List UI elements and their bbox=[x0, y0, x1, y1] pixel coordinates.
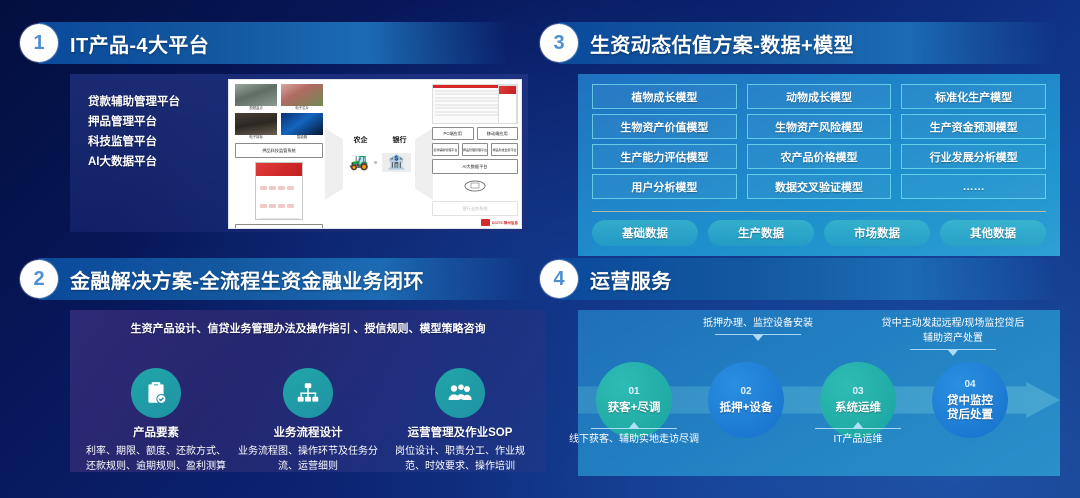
thumbnail-caption: 智能箱 bbox=[281, 135, 323, 140]
thumbnail: 智能箱 bbox=[281, 113, 323, 140]
q2-column-operations: 运营管理及作业SOP 岗位设计、职责分工、作业规范、时效要求、操作培训 bbox=[384, 368, 536, 474]
org-chart-icon bbox=[283, 368, 333, 418]
thumbnail: 电子耳标 bbox=[235, 113, 277, 140]
list-item: 贷款辅助管理平台 bbox=[88, 92, 218, 112]
quadrant-1-it-products: 1 IT产品-4大平台 贷款辅助管理平台 押品管理平台 科技监管平台 AI大数据… bbox=[20, 22, 528, 234]
list-item: 科技监管平台 bbox=[88, 132, 218, 152]
step-label: 贷中监控贷后处置 bbox=[947, 394, 993, 422]
q2-body: 利率、期限、额度、还款方式、还款规则、逾期规则、盈利测算 bbox=[86, 444, 226, 474]
tech-supervision-box: 押品科技监管平台 bbox=[491, 143, 518, 156]
ai-bigdata-box: AI大数据平台 bbox=[432, 159, 518, 174]
q2-body: 岗位设计、职责分工、作业规范、时效要求、操作培训 bbox=[390, 444, 530, 474]
annotation-step-2: 抵押办理、监控设备安装 bbox=[683, 316, 833, 335]
annotation-step-1: 线下获客、辅助实地走访尽调 bbox=[559, 428, 709, 447]
annotation-pointer-line bbox=[910, 349, 996, 350]
screenshot-center: 农企 银行 🚜 🏦 bbox=[341, 135, 419, 172]
model-cell[interactable]: 用户分析模型 bbox=[592, 174, 737, 199]
smart-box-image bbox=[281, 113, 323, 135]
right-box-row-2: 贷款辅助管理平台 押品管理管理平台 押品科技监管平台 bbox=[432, 143, 518, 156]
quadrant-2-financial-solution: 2 金融解决方案-全流程生资金融业务闭环 生资产品设计、信贷业务管理办法及操作指… bbox=[20, 258, 546, 478]
bank-building-box: 🏦 bbox=[382, 153, 411, 172]
screenshot-left-column: 视频监点 电子芯片 电子耳标 bbox=[235, 84, 323, 229]
model-cell[interactable]: 植物成长模型 bbox=[592, 84, 737, 109]
step-number: 03 bbox=[852, 386, 863, 397]
model-cell[interactable]: 行业发展分析模型 bbox=[901, 144, 1046, 169]
q2-title: 金融解决方案-全流程生资金融业务闭环 bbox=[70, 265, 424, 294]
loan-platform-box: 贷款辅助管理平台 bbox=[432, 143, 459, 156]
bank-label: 银行 bbox=[393, 135, 407, 145]
q2-column-process: 业务流程设计 业务流程图、操作环节及任务分流、运营细则 bbox=[232, 368, 384, 474]
tractor-icon: 🚜 bbox=[349, 155, 369, 171]
thumbnail: 电子芯片 bbox=[281, 84, 323, 111]
phone-icon-grid bbox=[256, 176, 302, 216]
users-group-icon bbox=[435, 368, 485, 418]
data-pill-other[interactable]: 其他数据 bbox=[940, 220, 1046, 246]
vendor-logo: DCITS 神州信息 bbox=[481, 219, 518, 226]
q3-badge: 3 bbox=[540, 24, 578, 62]
q2-column-group: 产品要素 利率、期限、额度、还款方式、还款规则、逾期规则、盈利测算 bbox=[80, 368, 536, 474]
q1-badge: 1 bbox=[20, 24, 58, 62]
q2-header: 2 金融解决方案-全流程生资金融业务闭环 bbox=[20, 258, 424, 300]
q2-column-product: 产品要素 利率、期限、额度、还款方式、还款规则、逾期规则、盈利测算 bbox=[80, 368, 232, 474]
pc-app-box: PC端应用 bbox=[432, 127, 474, 140]
q2-heading: 业务流程设计 bbox=[238, 424, 378, 440]
chip-image bbox=[281, 84, 323, 106]
step-circle-02[interactable]: 02 抵押+设备 bbox=[708, 362, 784, 438]
mobile-app-box: 移动端应用 bbox=[235, 224, 323, 229]
thumbnail-caption: 电子芯片 bbox=[281, 106, 323, 111]
model-cell[interactable]: 动物成长模型 bbox=[747, 84, 892, 109]
connector-dot bbox=[374, 161, 377, 164]
q3-title: 生资动态估值方案-数据+模型 bbox=[590, 29, 854, 58]
thumbnail-row: 视频监点 电子芯片 bbox=[235, 84, 323, 111]
data-pill-row: 基础数据 生产数据 市场数据 其他数据 bbox=[592, 220, 1046, 246]
mobile-phone-mockup bbox=[255, 162, 303, 220]
model-grid: 植物成长模型 动物成长模型 标准化生产模型 生物资产价值模型 生物资产风险模型 … bbox=[592, 84, 1046, 199]
q2-panel: 生资产品设计、信贷业务管理办法及操作指引 、授信规则、模型策略咨询 产品要素 利 bbox=[70, 310, 546, 472]
section-divider bbox=[592, 211, 1046, 212]
slide-canvas: 1 IT产品-4大平台 贷款辅助管理平台 押品管理平台 科技监管平台 AI大数据… bbox=[0, 0, 1080, 498]
annotation-pointer-line bbox=[591, 428, 677, 429]
q1-header: 1 IT产品-4大平台 bbox=[20, 22, 209, 64]
pc-table-mockup bbox=[432, 84, 518, 124]
phone-side-mockup bbox=[498, 85, 517, 124]
step-label: 系统运维 bbox=[835, 401, 881, 415]
phone-header bbox=[256, 163, 302, 176]
data-pill-production[interactable]: 生产数据 bbox=[708, 220, 814, 246]
q1-platform-list: 贷款辅助管理平台 押品管理平台 科技监管平台 AI大数据平台 bbox=[88, 92, 218, 172]
q2-heading: 运营管理及作业SOP bbox=[390, 424, 530, 440]
data-pill-market[interactable]: 市场数据 bbox=[824, 220, 930, 246]
quadrant-3-valuation: 3 生资动态估值方案-数据+模型 植物成长模型 动物成长模型 标准化生产模型 生… bbox=[540, 22, 1060, 242]
thumbnail: 视频监点 bbox=[235, 84, 277, 111]
q3-panel: 植物成长模型 动物成长模型 标准化生产模型 生物资产价值模型 生物资产风险模型 … bbox=[578, 74, 1060, 256]
model-cell[interactable]: 标准化生产模型 bbox=[901, 84, 1046, 109]
ear-tag-image bbox=[235, 113, 277, 135]
farm-enterprise-label: 农企 bbox=[354, 135, 368, 145]
step-label: 抵押+设备 bbox=[720, 401, 773, 415]
model-cell[interactable]: 生物资产价值模型 bbox=[592, 114, 737, 139]
list-item: 押品管理平台 bbox=[88, 112, 218, 132]
q1-product-screenshot: 视频监点 电子芯片 电子耳标 bbox=[228, 79, 522, 229]
annotation-step-4: 贷中主动发起远程/现场监控贷后辅助资产处置 bbox=[878, 316, 1028, 350]
list-item: AI大数据平台 bbox=[88, 152, 218, 172]
q2-heading: 产品要素 bbox=[86, 424, 226, 440]
q3-header: 3 生资动态估值方案-数据+模型 bbox=[540, 22, 854, 64]
clipboard-check-icon bbox=[131, 368, 181, 418]
q4-panel: 抵押办理、监控设备安装 贷中主动发起远程/现场监控贷后辅助资产处置 01 获客+… bbox=[578, 310, 1060, 476]
video-monitor-image bbox=[235, 84, 277, 106]
mobile-app-box-right: 移动端应用 bbox=[477, 127, 519, 140]
annotation-step-3: IT产品运维 bbox=[783, 428, 933, 447]
thumbnail-caption: 视频监点 bbox=[235, 106, 277, 111]
q4-title: 运营服务 bbox=[590, 265, 672, 294]
sync-icon bbox=[432, 179, 518, 197]
logo-mark-icon bbox=[481, 219, 490, 226]
step-number: 02 bbox=[740, 386, 751, 397]
collateral-platform-box: 押品管理管理平台 bbox=[462, 143, 489, 156]
step-number: 04 bbox=[964, 379, 975, 390]
bank-icon: 🏦 bbox=[387, 155, 406, 170]
model-cell[interactable]: 农产品价格模型 bbox=[747, 144, 892, 169]
screenshot-right-column: PC端应用 移动端应用 贷款辅助管理平台 押品管理管理平台 押品科技监管平台 A… bbox=[432, 84, 518, 216]
q1-title: IT产品-4大平台 bbox=[70, 29, 209, 58]
step-label: 获客+尽调 bbox=[608, 401, 661, 415]
q4-header: 4 运营服务 bbox=[540, 258, 672, 300]
data-pill-basic[interactable]: 基础数据 bbox=[592, 220, 698, 246]
thumbnail-row: 电子耳标 智能箱 bbox=[235, 113, 323, 140]
model-cell[interactable]: 生物资产风险模型 bbox=[747, 114, 892, 139]
supervision-system-box: 押品科技监管系统 bbox=[235, 143, 323, 158]
model-cell[interactable]: 数据交叉验证模型 bbox=[747, 174, 892, 199]
thumbnail-caption: 电子耳标 bbox=[235, 135, 277, 140]
model-cell-more[interactable]: …… bbox=[901, 174, 1046, 199]
q4-badge: 4 bbox=[540, 260, 578, 298]
q2-badge: 2 bbox=[20, 260, 58, 298]
annotation-pointer-line bbox=[815, 428, 901, 429]
right-box-row-1: PC端应用 移动端应用 bbox=[432, 127, 518, 140]
bank-business-system-box: 银行业务系统 bbox=[432, 201, 518, 216]
quadrant-4-operations-service: 4 运营服务 抵押办理、监控设备安装 贷中主动发起远程/现场监控贷后辅助资产处置… bbox=[540, 258, 1060, 478]
step-number: 01 bbox=[628, 386, 639, 397]
step-circle-04[interactable]: 04 贷中监控贷后处置 bbox=[932, 362, 1008, 438]
annotation-pointer-line bbox=[715, 334, 801, 335]
q2-lead-text: 生资产品设计、信贷业务管理办法及操作指引 、授信规则、模型策略咨询 bbox=[108, 320, 508, 338]
model-cell[interactable]: 生产能力评估模型 bbox=[592, 144, 737, 169]
model-cell[interactable]: 生产资金预测模型 bbox=[901, 114, 1046, 139]
logo-text: DCITS 神州信息 bbox=[492, 221, 518, 225]
q2-body: 业务流程图、操作环节及任务分流、运营细则 bbox=[238, 444, 378, 474]
q1-panel: 贷款辅助管理平台 押品管理平台 科技监管平台 AI大数据平台 视频监点 bbox=[70, 74, 528, 232]
